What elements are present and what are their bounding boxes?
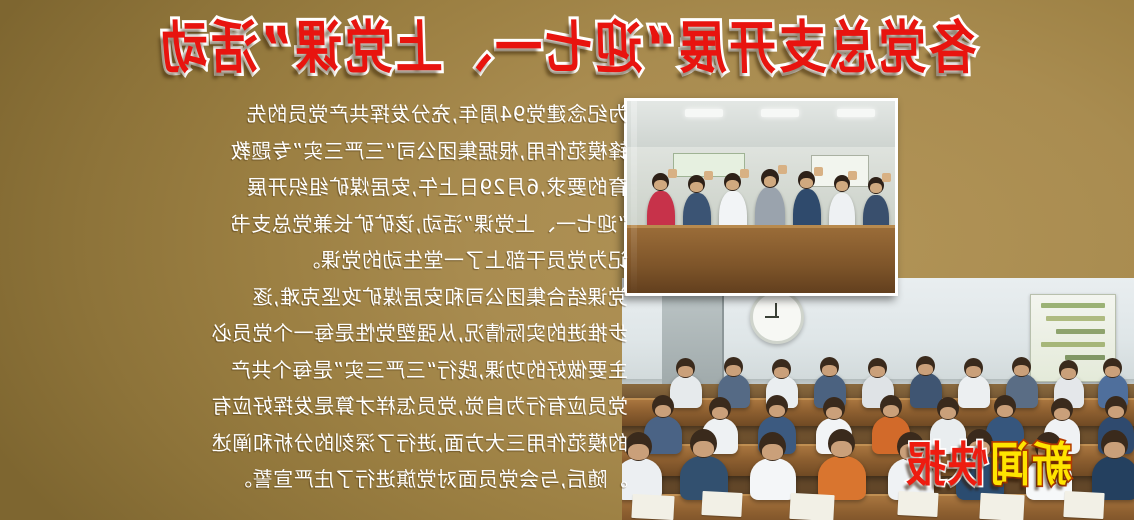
raised-fist (704, 171, 713, 180)
desk-paper (979, 493, 1024, 520)
person-head (676, 358, 695, 378)
seated-person (818, 456, 866, 500)
person-head (761, 169, 779, 188)
person-head (759, 432, 786, 461)
person-head (709, 397, 731, 420)
article-line: 为纪念建党94周年,充分发挥共产党员的先 (10, 96, 628, 133)
person-head (880, 395, 902, 418)
desk-paper (631, 494, 674, 520)
person-head (1059, 360, 1078, 380)
mirrored-content-wrapper: 各党总支开展“迎七一、上党课”活动 (0, 0, 1134, 520)
person-head (1101, 430, 1128, 459)
person-head (1012, 357, 1031, 377)
person-head (1103, 358, 1122, 378)
raised-fist (814, 167, 823, 176)
page-title: 各党总支开展“迎七一、上党课”活动 (157, 0, 977, 84)
person-head (652, 173, 669, 191)
seated-person (958, 375, 990, 408)
poster-title-area: 各党总支开展“迎七一、上党课”活动 (0, 8, 1134, 77)
person-head (772, 359, 791, 379)
person-head (820, 357, 839, 377)
person-head (937, 397, 959, 420)
party-oath-ceremony-photo (624, 98, 898, 296)
raised-fist (740, 169, 749, 178)
raised-fist (848, 171, 857, 180)
person-head (823, 397, 845, 420)
person-head (1105, 396, 1127, 419)
raised-fist (668, 169, 677, 178)
person-head (724, 173, 741, 191)
news-stamp-part1: 新闻 (988, 439, 1072, 493)
news-stamp: 新闻快报 (904, 427, 1072, 495)
news-stamp-part2: 快报 (904, 439, 988, 493)
article-line: 步推进的实际情况,从强塑党性是每一个党员必 (10, 315, 628, 352)
photo-ceiling (627, 101, 895, 151)
person-head (690, 429, 717, 458)
article-line: 党员应有行为自觉,党员怎样才算是发挥好应有 (10, 388, 628, 425)
article-line: “迎七一、上党课”活动,该矿矿长兼党总支书 (10, 206, 628, 243)
person-head (688, 175, 705, 193)
seated-person (670, 375, 702, 408)
article-line: 育的要求,6月29日上午,安居煤矿组织开展 (10, 169, 628, 206)
text-edge-decoration (631, 100, 637, 300)
desk-paper (701, 491, 742, 517)
wall-clock-icon (750, 290, 804, 344)
person-head (868, 358, 887, 378)
person-head (964, 358, 983, 378)
article-line: 锋模范作用,根据集团公司“三严三实”专题教 (10, 133, 628, 170)
article-line: 。随后,与会党员面对党旗进行了庄严宣誓。 (10, 461, 628, 498)
person-head (798, 171, 815, 189)
person-head (916, 356, 935, 376)
desk-paper (789, 493, 834, 520)
article-line: 记为党员干部上了一堂生动的党课。 (10, 242, 628, 279)
raised-fist (778, 165, 787, 174)
person-head (766, 395, 788, 418)
raised-fist (882, 173, 891, 182)
person-head (828, 429, 855, 458)
person-head (652, 395, 674, 418)
article-body: 为纪念建党94周年,充分发挥共产党员的先 锋模范作用,根据集团公司“三严三实”专… (10, 96, 628, 498)
article-line: 主要做好的功课,践行“三严三实”是每个共产 (10, 352, 628, 389)
person-head (625, 432, 652, 461)
person-head (994, 395, 1016, 418)
article-line: 党课结合集团公司和安居煤矿攻坚克难,逐 (10, 279, 628, 316)
seated-person (750, 458, 796, 500)
person-head (1051, 398, 1073, 421)
poster-canvas: 各党总支开展“迎七一、上党课”活动 (0, 0, 1134, 520)
article-line: 的模范作用三大方面,进行了深刻的分析和阐述 (10, 425, 628, 462)
person-head (724, 357, 743, 377)
podium-bench (627, 225, 895, 293)
